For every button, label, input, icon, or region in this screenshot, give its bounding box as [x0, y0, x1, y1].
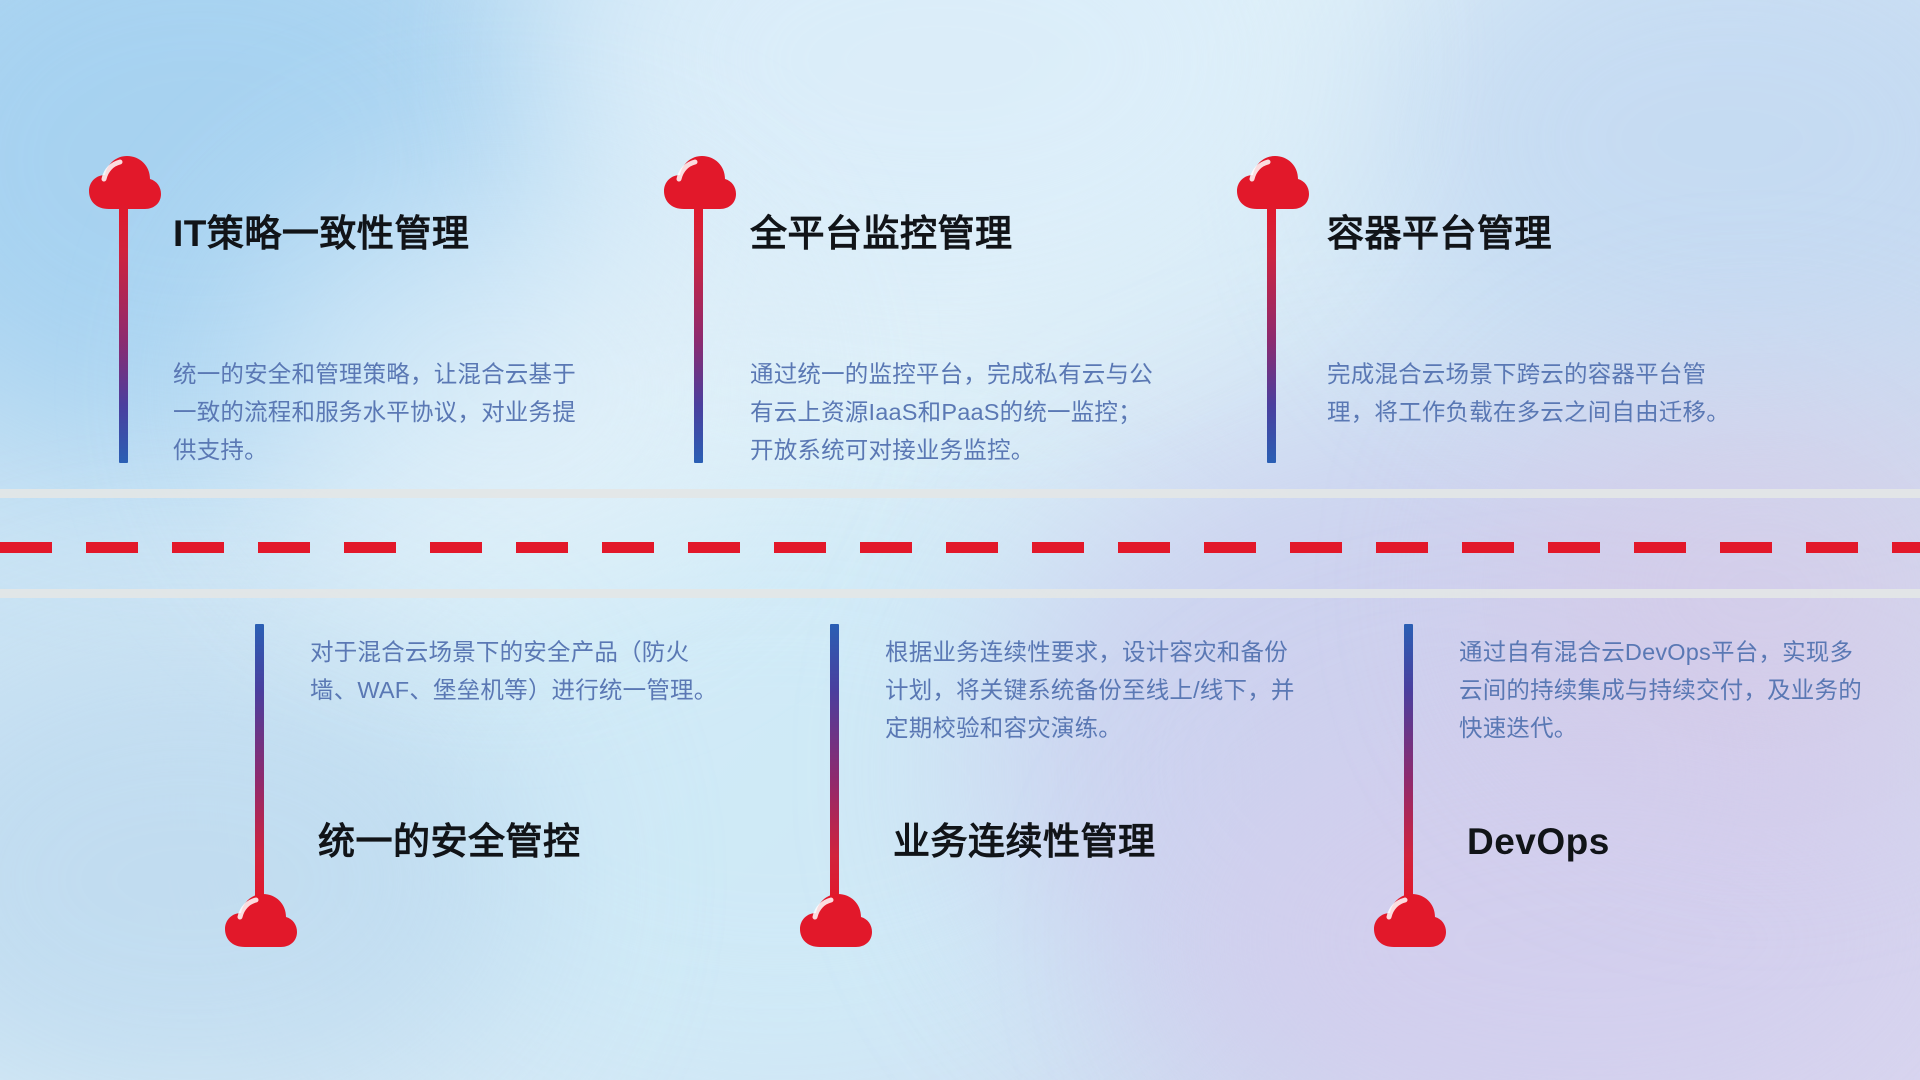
feature-title: 统一的安全管控 [318, 823, 581, 860]
cloud-icon [799, 893, 873, 949]
feature-description: 根据业务连续性要求，设计容灾和备份计划，将关键系统备份至线上/线下，并定期校验和… [885, 633, 1300, 747]
feature-title: 容器平台管理 [1327, 215, 1552, 252]
connector-bar [694, 203, 703, 463]
cloud-icon [224, 893, 298, 949]
divider-line-bottom [0, 589, 1920, 598]
connector-bar [119, 203, 128, 463]
connector-bar [255, 624, 264, 900]
cloud-icon [1373, 893, 1447, 949]
feature-description: 统一的安全和管理策略，让混合云基于一致的流程和服务水平协议，对业务提供支持。 [173, 355, 588, 469]
feature-title: 全平台监控管理 [750, 215, 1013, 252]
feature-title: DevOps [1467, 823, 1610, 860]
feature-title: 业务连续性管理 [893, 823, 1156, 860]
feature-description: 通过统一的监控平台，完成私有云与公有云上资源IaaS和PaaS的统一监控；开放系… [750, 355, 1165, 469]
feature-description: 对于混合云场景下的安全产品（防火墙、WAF、堡垒机等）进行统一管理。 [310, 633, 725, 709]
connector-bar [830, 624, 839, 900]
feature-title: IT策略一致性管理 [173, 215, 469, 252]
connector-bar [1404, 624, 1413, 900]
feature-description: 完成混合云场景下跨云的容器平台管理，将工作负载在多云之间自由迁移。 [1327, 355, 1742, 431]
feature-description: 通过自有混合云DevOps平台，实现多云间的持续集成与持续交付，及业务的快速迭代… [1459, 633, 1874, 747]
dashed-separator [0, 542, 1920, 553]
connector-bar [1267, 203, 1276, 463]
infographic-canvas: IT策略一致性管理 统一的安全和管理策略，让混合云基于一致的流程和服务水平协议，… [0, 0, 1920, 1080]
divider-line-top [0, 489, 1920, 498]
